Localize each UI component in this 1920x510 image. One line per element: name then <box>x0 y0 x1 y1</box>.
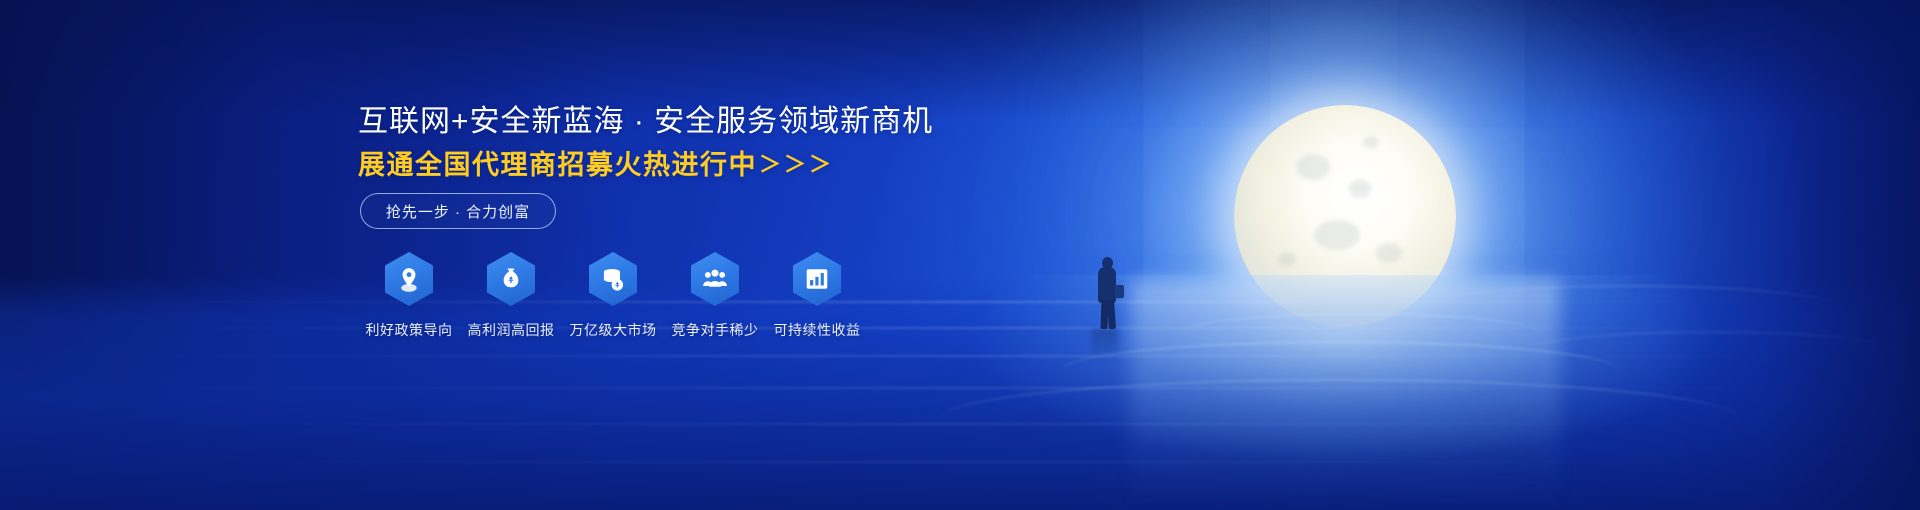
location-pin-icon <box>385 252 433 306</box>
moon-craters <box>1234 105 1456 327</box>
money-bag-icon <box>487 252 535 306</box>
cta-pill-button[interactable]: 抢先一步 · 合力创富 <box>360 193 556 229</box>
banner-subline: 展通全国代理商招募火热进行中 <box>358 143 757 182</box>
coin-stack-icon <box>589 252 637 306</box>
promo-banner: 互联网+安全新蓝海 · 安全服务领域新商机 展通全国代理商招募火热进行中 ＞＞＞… <box>0 0 1920 510</box>
right-vignette <box>1660 0 1920 510</box>
banner-subline-row: 展通全国代理商招募火热进行中 ＞＞＞ <box>358 143 834 182</box>
feature-list: 利好政策导向 高利润高回报 <box>358 252 868 340</box>
banner-headline: 互联网+安全新蓝海 · 安全服务领域新商机 <box>358 96 933 140</box>
people-group-icon <box>691 252 739 306</box>
chevron-right-icon: ＞＞＞ <box>759 147 834 179</box>
feature-item[interactable]: 可持续性收益 <box>766 252 868 340</box>
feature-label: 可持续性收益 <box>774 320 861 340</box>
moon-icon <box>1234 105 1456 327</box>
feature-label: 利好政策导向 <box>366 320 453 340</box>
feature-label: 高利润高回报 <box>468 320 555 340</box>
standing-person-silhouette <box>1089 257 1123 329</box>
bar-chart-icon <box>793 252 841 306</box>
feature-item[interactable]: 万亿级大市场 <box>562 252 664 340</box>
cta-pill-label: 抢先一步 · 合力创富 <box>386 201 530 222</box>
figure-reflection <box>1092 329 1118 359</box>
feature-item[interactable]: 竞争对手稀少 <box>664 252 766 340</box>
feature-item[interactable]: 高利润高回报 <box>460 252 562 340</box>
feature-label: 万亿级大市场 <box>570 320 657 340</box>
banner-content: 互联网+安全新蓝海 · 安全服务领域新商机 展通全国代理商招募火热进行中 ＞＞＞… <box>0 0 900 510</box>
feature-item[interactable]: 利好政策导向 <box>358 252 460 340</box>
feature-label: 竞争对手稀少 <box>672 320 759 340</box>
